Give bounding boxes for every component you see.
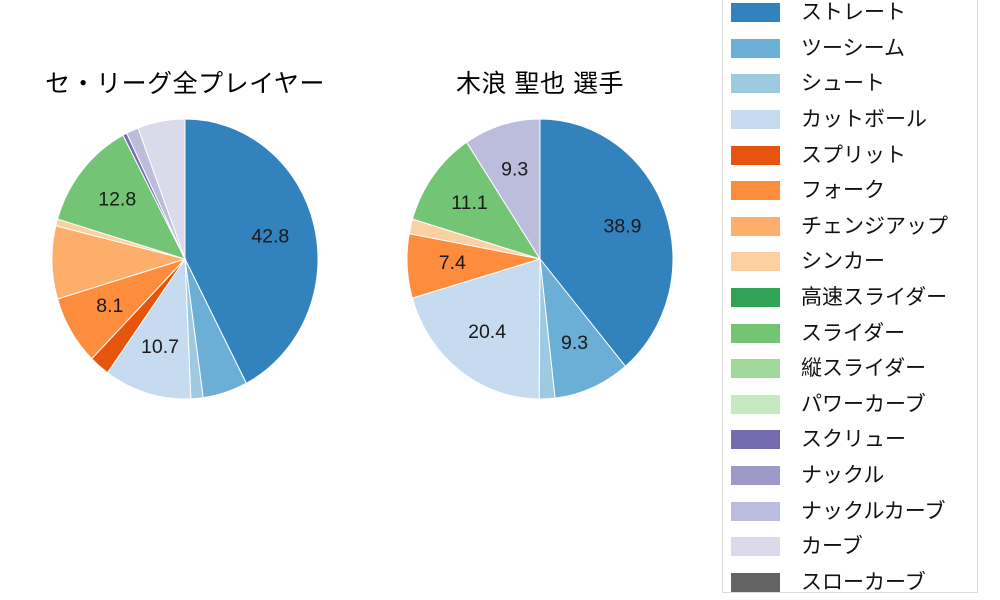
legend-item[interactable]: 縦スライダー — [723, 351, 977, 387]
legend-swatch-icon — [731, 181, 780, 200]
legend-item[interactable]: シュート — [723, 66, 977, 102]
legend-item-label: スライダー — [801, 323, 905, 344]
legend-item[interactable]: チェンジアップ — [723, 209, 977, 245]
legend-item-label: 縦スライダー — [801, 358, 926, 379]
legend-item[interactable]: カットボール — [723, 102, 977, 138]
legend-item-label: ツーシーム — [801, 38, 905, 59]
legend-swatch-icon — [731, 502, 780, 521]
legend-item-label: 高速スライダー — [801, 287, 947, 308]
legend-swatch-icon — [731, 3, 780, 22]
legend-swatch-icon — [731, 430, 780, 449]
legend-swatch-icon — [731, 466, 780, 485]
legend-item[interactable]: ナックル — [723, 458, 977, 494]
pie-slice-label: 9.3 — [501, 159, 528, 181]
pie-slice-label: 20.4 — [468, 321, 506, 343]
legend-item-label: スクリュー — [801, 429, 906, 450]
legend-swatch-icon — [731, 288, 780, 307]
legend-swatch-icon — [731, 324, 780, 343]
legend-swatch-icon — [731, 252, 780, 271]
legend-item-label: スローカーブ — [801, 572, 926, 593]
legend-item-label: シュート — [801, 73, 885, 94]
pie-slice-label: 11.1 — [451, 192, 488, 214]
legend-item[interactable]: シンカー — [723, 244, 977, 280]
legend-item-label: ナックルカーブ — [801, 501, 945, 522]
legend-item[interactable]: パワーカーブ — [723, 387, 977, 423]
pie-slice-label: 8.1 — [96, 295, 123, 317]
legend-item-label: ナックル — [801, 465, 884, 486]
legend-item[interactable]: カーブ — [723, 529, 977, 565]
pitch-type-legend: ストレートツーシームシュートカットボールスプリットフォークチェンジアップシンカー… — [722, 0, 978, 593]
legend-item[interactable]: スライダー — [723, 315, 977, 351]
legend-item[interactable]: フォーク — [723, 173, 977, 209]
legend-swatch-icon — [731, 39, 780, 58]
legend-swatch-icon — [731, 359, 780, 378]
legend-swatch-icon — [731, 395, 780, 414]
pie-slice-label: 12.8 — [98, 189, 136, 211]
pie-chart-league-average: 42.810.78.112.8 — [0, 116, 370, 406]
legend-item-label: フォーク — [801, 180, 885, 201]
legend-item[interactable]: スプリット — [723, 137, 977, 173]
legend-item[interactable]: スクリュー — [723, 422, 977, 458]
pie-title-league-average: セ・リーグ全プレイヤー — [0, 64, 370, 100]
legend-swatch-icon — [731, 537, 780, 556]
pie-slice-label: 9.3 — [561, 332, 588, 354]
legend-item[interactable]: ストレート — [723, 0, 977, 31]
pie-panel-league-average: セ・リーグ全プレイヤー 42.810.78.112.8 — [0, 0, 370, 600]
legend-swatch-icon — [731, 110, 780, 129]
legend-item-label: パワーカーブ — [801, 394, 926, 415]
pie-panel-player: 木浪 聖也 選手 38.99.320.47.411.19.3 — [355, 0, 725, 600]
legend-item[interactable]: 高速スライダー — [723, 280, 977, 316]
pie-slice-label: 42.8 — [251, 225, 289, 247]
legend-item-label: チェンジアップ — [801, 216, 948, 237]
legend-swatch-icon — [731, 146, 780, 165]
legend-item-label: シンカー — [801, 251, 885, 272]
legend-item-label: ストレート — [801, 2, 906, 23]
legend-item-label: スプリット — [801, 145, 906, 166]
legend-item[interactable]: スローカーブ — [723, 565, 977, 600]
pie-slice-label: 7.4 — [439, 252, 466, 274]
legend-swatch-icon — [731, 74, 780, 93]
pie-chart-player: 38.99.320.47.411.19.3 — [355, 116, 725, 406]
legend-item-label: カーブ — [801, 536, 863, 557]
legend-item[interactable]: ナックルカーブ — [723, 493, 977, 529]
pitch-type-distribution-figure: セ・リーグ全プレイヤー 42.810.78.112.8 木浪 聖也 選手 38.… — [0, 0, 1000, 600]
legend-item-label: カットボール — [801, 109, 927, 130]
legend-item[interactable]: ツーシーム — [723, 31, 977, 67]
legend-swatch-icon — [731, 217, 780, 236]
pie-slice-label: 38.9 — [604, 216, 642, 238]
pie-slice-label: 10.7 — [141, 336, 179, 358]
pie-title-player: 木浪 聖也 選手 — [355, 64, 725, 100]
legend-swatch-icon — [731, 573, 780, 592]
